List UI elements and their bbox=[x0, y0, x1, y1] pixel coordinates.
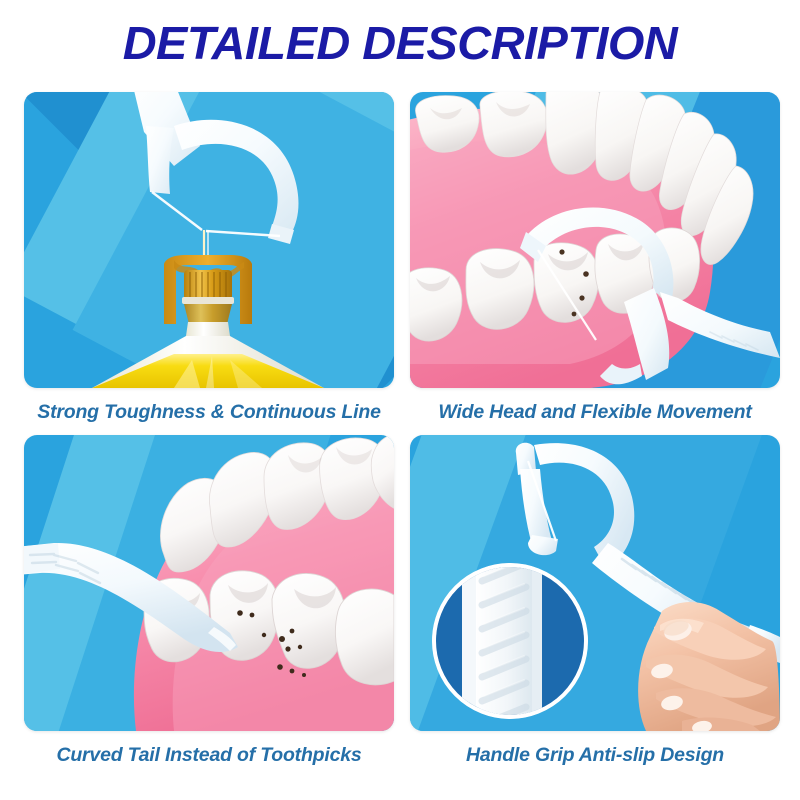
panel-curved-tail-image[interactable] bbox=[24, 435, 394, 731]
panel-wide-head-image[interactable] bbox=[410, 92, 780, 388]
panel-cell-curved-tail: Curved Tail Instead of Toothpicks bbox=[24, 435, 394, 767]
panel-cell-wide-head: Wide Head and Flexible Movement bbox=[410, 92, 780, 424]
panel-strength-image[interactable] bbox=[24, 92, 394, 388]
panel-caption-wide-head: Wide Head and Flexible Movement bbox=[410, 401, 780, 424]
panel-caption-strength: Strong Toughness & Continuous Line bbox=[24, 401, 394, 424]
panel-caption-grip: Handle Grip Anti-slip Design bbox=[410, 744, 780, 767]
infographic-page: DETAILED DESCRIPTION bbox=[0, 0, 800, 800]
panel-cell-grip: Handle Grip Anti-slip Design bbox=[410, 435, 780, 767]
floss-pick-lifting-oil-bottle-art bbox=[24, 92, 394, 388]
panel-cell-strength: Strong Toughness & Continuous Line bbox=[24, 92, 394, 424]
floss-between-molars-art bbox=[410, 92, 780, 388]
curved-tail-cleaning-art bbox=[24, 435, 394, 731]
panel-grip-image[interactable] bbox=[410, 435, 780, 731]
panel-caption-curved-tail: Curved Tail Instead of Toothpicks bbox=[24, 744, 394, 767]
panel-grid: Strong Toughness & Continuous Line bbox=[0, 92, 800, 792]
hand-holding-pick-with-magnifier-art bbox=[410, 435, 780, 731]
page-title: DETAILED DESCRIPTION bbox=[0, 16, 800, 70]
